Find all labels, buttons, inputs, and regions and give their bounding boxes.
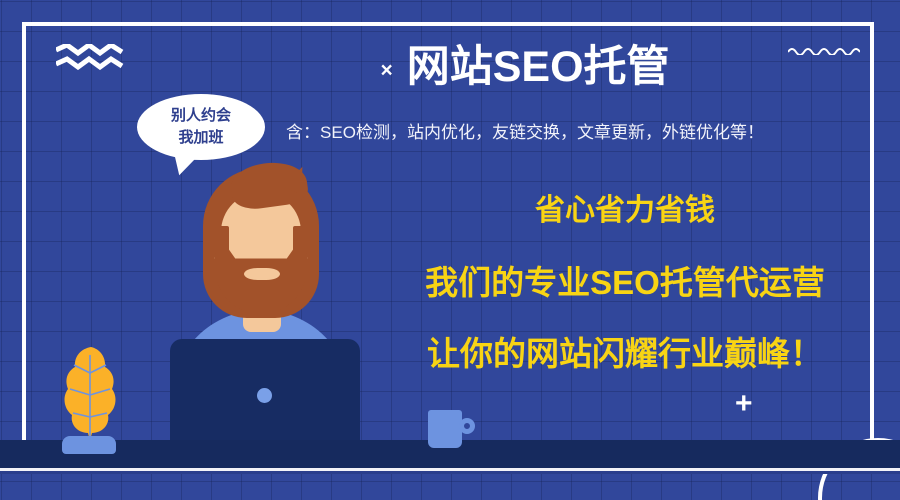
- desk-shadow-line: [0, 471, 900, 474]
- speech-bubble-text: 别人约会 我加班: [137, 105, 265, 149]
- plant-pot: [62, 436, 116, 454]
- speech-bubble-line-2: 我加班: [137, 127, 265, 149]
- speech-bubble-line-1: 别人约会: [137, 105, 265, 127]
- laptop-logo-dot: [257, 388, 272, 403]
- person-mouth: [244, 268, 280, 280]
- coffee-mug-handle: [459, 418, 475, 434]
- coffee-mug-icon: [428, 410, 462, 448]
- seo-hosting-banner: × 网站SEO托管 含：SEO检测，站内优化，友链交换，文章更新，外链优化等！ …: [0, 0, 900, 500]
- potted-plant-icon: [62, 345, 120, 441]
- speech-bubble: 别人约会 我加班: [137, 94, 265, 168]
